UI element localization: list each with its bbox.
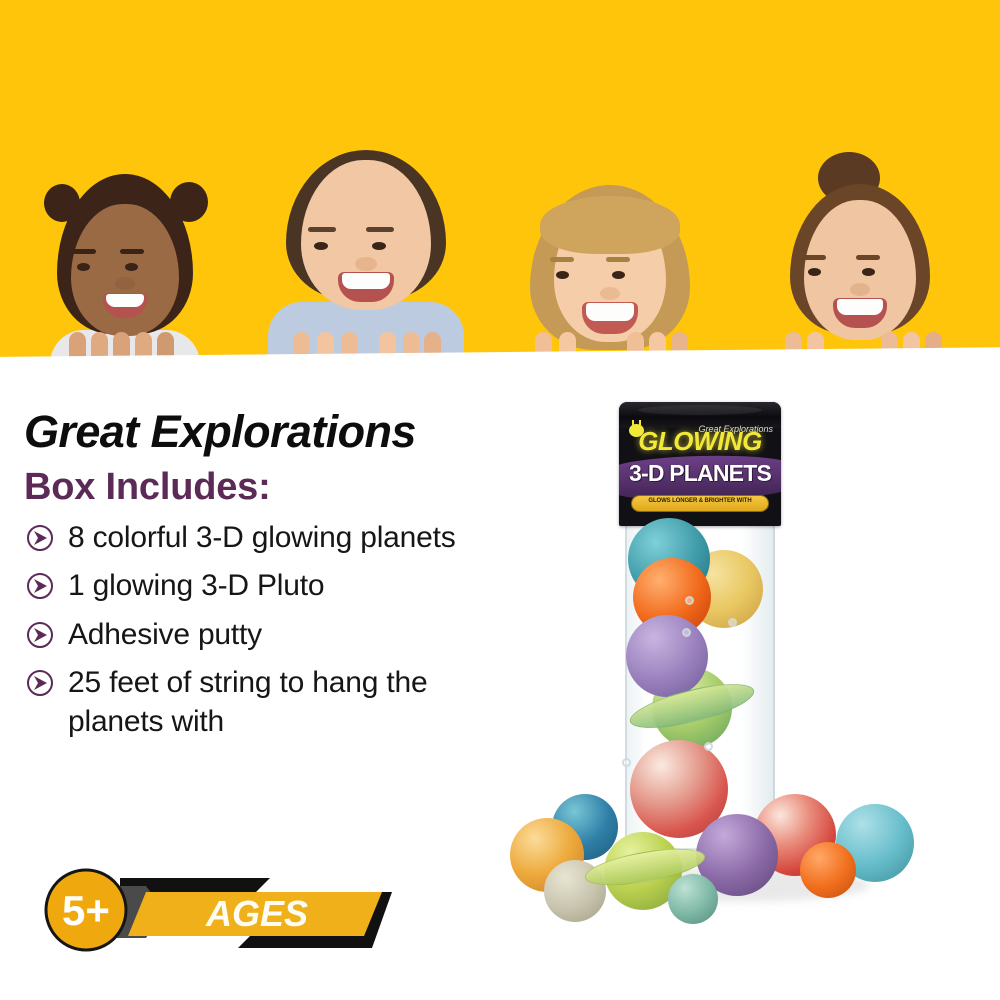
eyebrow-right <box>856 255 880 260</box>
teeth <box>106 294 144 307</box>
label-tagline: GLOWS LONGER & BRIGHTER WITH <box>632 498 768 504</box>
teeth <box>586 303 634 321</box>
arrow-circle-icon <box>26 572 54 605</box>
kid-boy-blue <box>258 132 473 372</box>
product-label: Great Explorations GLOWING 3-D PLANETS G… <box>619 402 781 526</box>
eyebrow-left <box>550 257 574 262</box>
list-item-label: 1 glowing 3-D Pluto <box>68 567 324 605</box>
label-title: 3-D PLANETS <box>619 460 781 487</box>
nose <box>600 287 620 300</box>
eye-right <box>125 263 138 271</box>
loose-planet-orange-small <box>800 842 856 898</box>
product-image: Great Explorations GLOWING 3-D PLANETS G… <box>500 390 1000 990</box>
kids-row <box>0 122 1000 372</box>
hair-fringe <box>540 196 680 254</box>
nose <box>355 257 377 271</box>
list-item-label: 8 colorful 3-D glowing planets <box>68 519 456 557</box>
list-item-label: 25 feet of string to hang the planets wi… <box>68 664 488 741</box>
hanging-hook <box>685 596 694 605</box>
eyebrow-left <box>72 249 96 254</box>
hair-bun-left <box>44 184 80 222</box>
hair-bun-right <box>170 182 208 222</box>
loose-planet-mint-pluto <box>668 874 718 924</box>
tube-planet-purple <box>626 615 708 697</box>
list-item-label: Adhesive putty <box>68 616 262 654</box>
hanging-hook <box>682 628 691 637</box>
label-glow-word: GLOWING <box>619 426 781 457</box>
eye-right <box>862 268 875 276</box>
hanging-hook <box>622 758 631 767</box>
ages-badge: 5+ AGES <box>42 862 392 962</box>
nose <box>850 283 870 296</box>
kid-girl-braids <box>30 172 220 372</box>
eye-left <box>808 268 821 276</box>
hero-yellow-background <box>0 0 1000 372</box>
kid-girl-blonde <box>510 172 710 372</box>
nose <box>115 277 135 290</box>
kid-girl-bun <box>760 152 960 372</box>
eyebrow-right <box>606 257 630 262</box>
teeth <box>342 273 390 289</box>
eyebrow-right <box>120 249 144 254</box>
ribbon-label: AGES <box>205 893 308 934</box>
eye-left <box>77 263 90 271</box>
eyebrow-left <box>802 255 826 260</box>
eyebrow-right <box>366 227 394 232</box>
arrow-circle-icon <box>26 669 54 702</box>
age-value: 5+ <box>62 887 110 934</box>
eye-right <box>372 242 386 250</box>
arrow-circle-icon <box>26 524 54 557</box>
hanging-hook <box>704 742 713 751</box>
eyebrow-left <box>308 227 336 232</box>
teeth <box>837 299 883 315</box>
eye-right <box>612 271 625 279</box>
label-tagline-pill: GLOWS LONGER & BRIGHTER WITH <box>631 495 769 512</box>
arrow-circle-icon <box>26 621 54 654</box>
hanging-hook <box>728 618 737 627</box>
eye-left <box>314 242 328 250</box>
eye-left <box>556 271 569 279</box>
